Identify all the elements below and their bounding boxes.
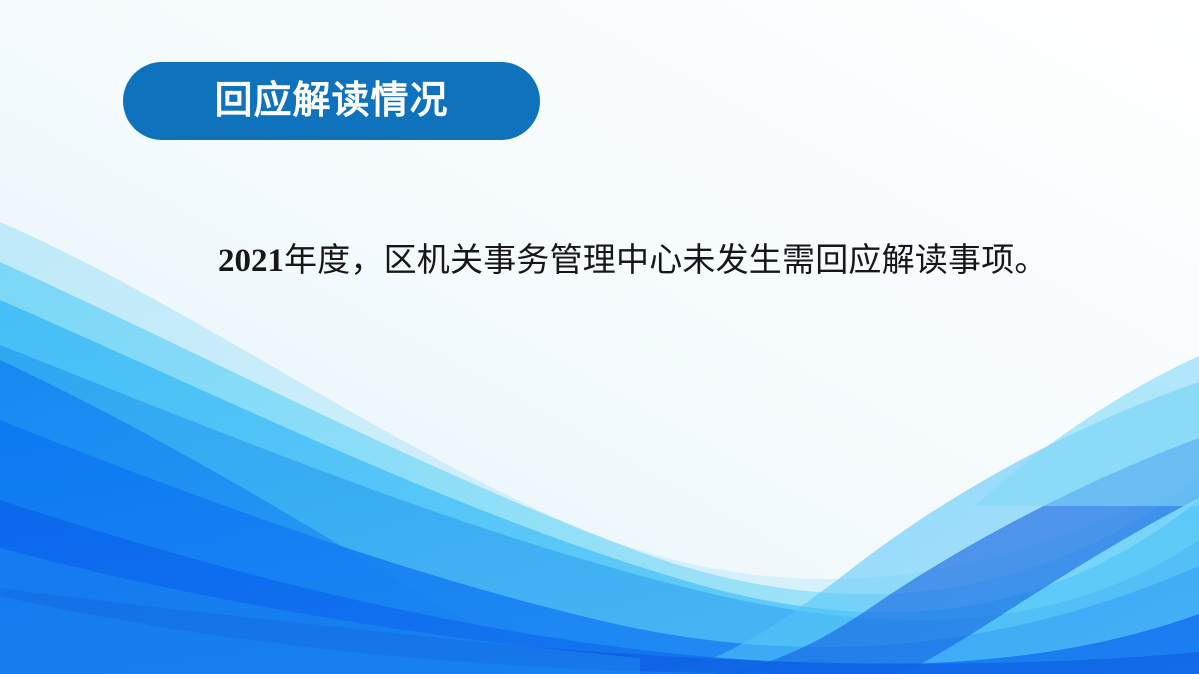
slide-canvas: 回应解读情况 2021年度，区机关事务管理中心未发生需回应解读事项。 [0, 0, 1199, 674]
body-year-numeral: 2021 [218, 243, 284, 279]
section-title-badge: 回应解读情况 [123, 62, 540, 140]
section-title-label: 回应解读情况 [214, 81, 448, 119]
body-paragraph-text: 年度，区机关事务管理中心未发生需回应解读事项。 [284, 243, 1048, 279]
body-paragraph: 2021年度，区机关事务管理中心未发生需回应解读事项。 [140, 233, 1120, 289]
